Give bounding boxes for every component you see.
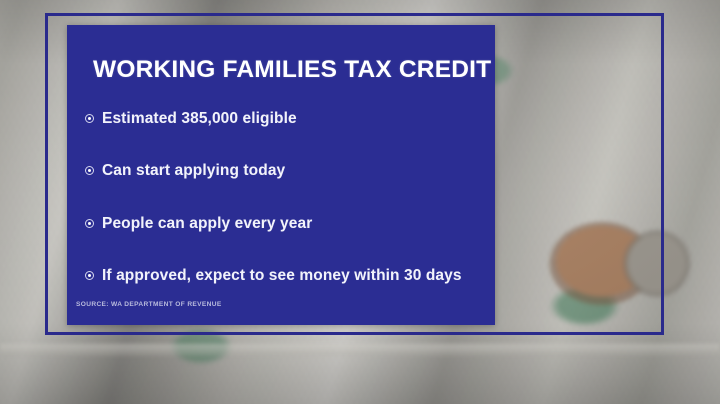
list-item-label: Can start applying today — [102, 161, 285, 180]
bullet-dot-icon — [85, 219, 94, 228]
broadcast-graphic-screen: WORKING FAMILIES TAX CREDIT Estimated 38… — [0, 0, 720, 404]
list-item: Can start applying today — [85, 161, 481, 180]
list-item: People can apply every year — [85, 214, 481, 233]
bullet-dot-icon — [85, 271, 94, 280]
info-panel: WORKING FAMILIES TAX CREDIT Estimated 38… — [67, 25, 495, 325]
source-attribution: SOURCE: WA DEPARTMENT OF REVENUE — [76, 301, 222, 308]
list-item-label: If approved, expect to see money within … — [102, 266, 462, 285]
bullet-list: Estimated 385,000 eligible Can start app… — [85, 109, 481, 286]
list-item-label: People can apply every year — [102, 214, 312, 233]
list-item: Estimated 385,000 eligible — [85, 109, 481, 128]
bullet-dot-icon — [85, 114, 94, 123]
list-item: If approved, expect to see money within … — [85, 266, 481, 285]
bullet-dot-icon — [85, 166, 94, 175]
page-title: WORKING FAMILIES TAX CREDIT — [93, 56, 491, 84]
list-item-label: Estimated 385,000 eligible — [102, 109, 297, 128]
